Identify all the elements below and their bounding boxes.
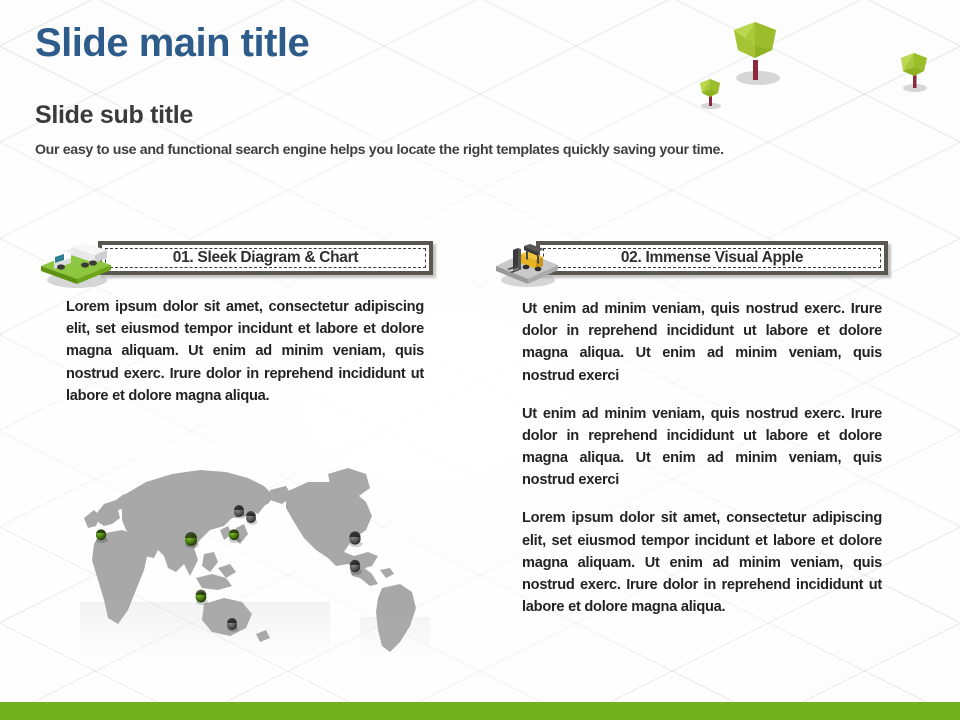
slide-tagline: Our easy to use and functional search en…: [35, 142, 724, 158]
section-header-box-01: 01. Sleek Diagram & Chart: [98, 241, 433, 275]
tree-medium-icon: [898, 50, 932, 101]
truck-tile-icon: [33, 236, 119, 288]
section-header-02[interactable]: 02. Immense Visual Apple: [488, 236, 888, 288]
paragraph: Ut enim ad minim veniam, quis nostrud ex…: [522, 298, 882, 387]
paragraph: Lorem ipsum dolor sit amet, consectetur …: [66, 296, 424, 407]
section-header-box-02: 02. Immense Visual Apple: [536, 241, 888, 275]
slide-sub-title: Slide sub title: [35, 101, 193, 130]
section-heading-label-02: 02. Immense Visual Apple: [540, 245, 884, 271]
tree-large-icon: [728, 16, 784, 101]
paragraph: Lorem ipsum dolor sit amet, consectetur …: [522, 507, 882, 618]
section-header-01[interactable]: 01. Sleek Diagram & Chart: [33, 236, 433, 288]
world-map-graphic: [60, 452, 445, 662]
footer-accent-bar: [0, 702, 960, 720]
slide-main-title: Slide main title: [35, 21, 309, 66]
slide-canvas: Slide main title Slide sub title Our eas…: [0, 0, 960, 720]
paragraph: Ut enim ad minim veniam, quis nostrud ex…: [522, 403, 882, 492]
forklift-tile-icon: [488, 236, 566, 288]
section-body-01: Lorem ipsum dolor sit amet, consectetur …: [66, 296, 424, 407]
tree-small-icon: [698, 76, 724, 117]
section-body-02: Ut enim ad minim veniam, quis nostrud ex…: [522, 298, 882, 618]
section-heading-label-01: 01. Sleek Diagram & Chart: [102, 245, 429, 271]
